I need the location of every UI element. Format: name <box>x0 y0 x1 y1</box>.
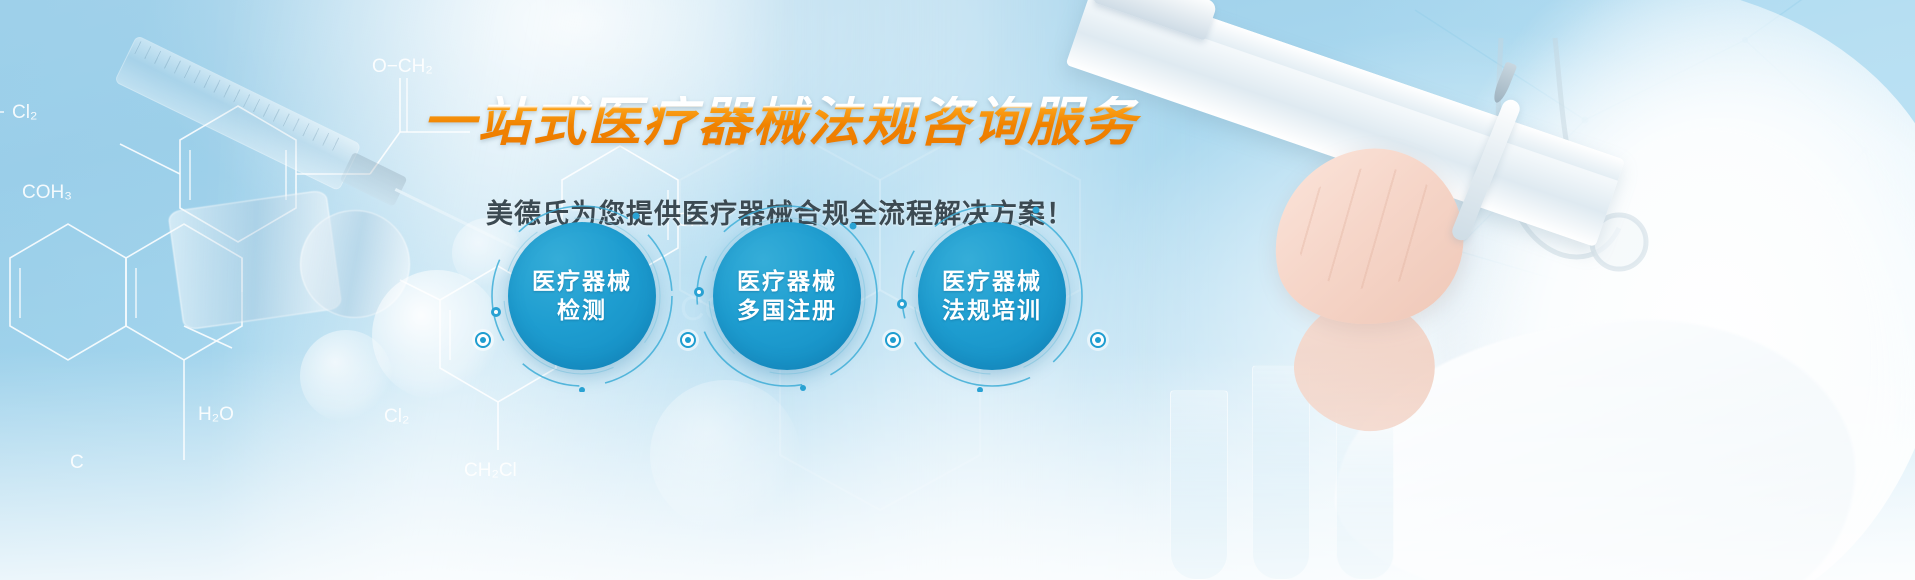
test-tubes-decor <box>1160 350 1460 580</box>
banner-root: Cl₂ COH₃ O−CH₂ H₂O Cl₂ CH₂Cl C Cl CH <box>0 0 1915 580</box>
chem-label-ch2cl: CH₂Cl <box>464 460 517 481</box>
badge-label-line2: 法规培训 <box>942 296 1042 325</box>
badge-label-line1: 医疗器械 <box>532 267 632 296</box>
badge-label-line1: 医疗器械 <box>942 267 1042 296</box>
badge-disc: 医疗器械 多国注册 <box>713 222 861 370</box>
service-badge-group: 医疗器械 检测 医疗器械 多国注册 <box>500 222 1100 422</box>
badge-disc: 医疗器械 法规培训 <box>918 222 1066 370</box>
badge-label-line2: 多国注册 <box>737 296 837 325</box>
chem-label-c: C <box>70 452 84 473</box>
bokeh-light-2 <box>300 330 392 422</box>
chem-label-och2: O−CH₂ <box>372 56 433 77</box>
service-badge-registration[interactable]: 医疗器械 多国注册 <box>713 222 861 370</box>
chem-label-cl2-b: Cl₂ <box>384 406 409 427</box>
badge-connector-dot-4 <box>1090 332 1106 348</box>
banner-headline: 一站式医疗器械法规咨询服务 <box>0 96 1560 149</box>
doctor-photo <box>1135 0 1915 580</box>
badge-connector-dot-1 <box>475 332 491 348</box>
badge-connector-dot-2 <box>680 332 696 348</box>
badge-disc: 医疗器械 检测 <box>508 222 656 370</box>
left-veil <box>0 0 520 580</box>
hand-holding-pen <box>1257 132 1479 343</box>
service-badge-training[interactable]: 医疗器械 法规培训 <box>918 222 1066 370</box>
badge-label-line1: 医疗器械 <box>737 267 837 296</box>
service-badge-testing[interactable]: 医疗器械 检测 <box>508 222 656 370</box>
badge-connector-dot-3 <box>885 332 901 348</box>
badge-label-line2: 检测 <box>557 296 607 325</box>
chem-label-h2o: H₂O <box>198 404 234 425</box>
hand-lower <box>1283 287 1447 443</box>
